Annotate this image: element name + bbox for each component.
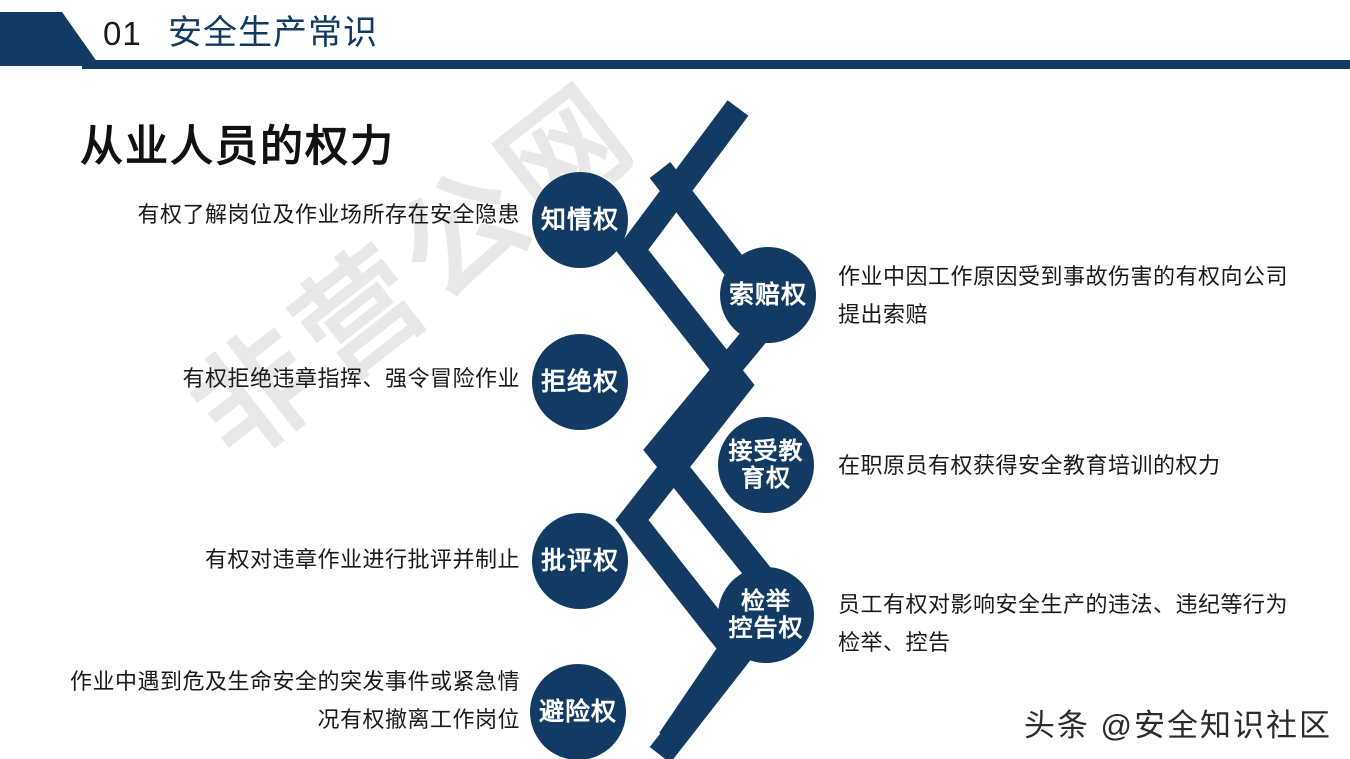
- description-zhiqingquan: 有权了解岗位及作业场所存在安全隐患: [60, 196, 520, 234]
- node-label-line1: 接受教: [729, 438, 804, 465]
- node-label-line1: 检举: [741, 588, 791, 615]
- node-circle-pipingquan[interactable]: 批评权: [532, 513, 628, 609]
- header-section-number: 01: [103, 12, 142, 56]
- node-circle-jujuequan[interactable]: 拒绝权: [532, 334, 628, 430]
- header-section-title: 安全生产常识: [168, 10, 378, 56]
- node-label-line2: 育权: [741, 465, 791, 492]
- description-jujuequan: 有权拒绝违章指挥、强令冒险作业: [60, 360, 520, 398]
- node-circle-suopeiquan[interactable]: 索赔权: [720, 247, 816, 343]
- description-pipingquan: 有权对违章作业进行批评并制止: [60, 541, 520, 579]
- node-circle-bixianquan[interactable]: 避险权: [530, 664, 626, 759]
- node-label: 批评权: [541, 547, 619, 575]
- slide-canvas: 01 安全生产常识 从业人员的权力 非营公网 知情权 拒绝权 批评权 避险权 索…: [0, 0, 1350, 759]
- page-title: 从业人员的权力: [80, 112, 395, 174]
- node-circle-jianjukonggaoquan[interactable]: 检举 控告权: [718, 567, 814, 663]
- brand-watermark: 头条 @安全知识社区: [1024, 700, 1332, 745]
- node-circle-jieshoujiaoyuquan[interactable]: 接受教 育权: [718, 417, 814, 513]
- node-label: 避险权: [539, 698, 617, 726]
- node-label: 拒绝权: [541, 368, 619, 396]
- node-label: 索赔权: [729, 281, 807, 309]
- node-circle-zhiqingquan[interactable]: 知情权: [532, 172, 628, 268]
- description-suopeiquan: 作业中因工作原因受到事故伤害的有权向公司提出索赔: [838, 258, 1308, 334]
- node-label-line2: 控告权: [729, 615, 804, 642]
- description-jieshoujiaoyuquan: 在职原员有权获得安全教育培训的权力: [838, 447, 1308, 485]
- description-jianjukonggaoquan: 员工有权对影响安全生产的违法、违纪等行为检举、控告: [838, 586, 1308, 662]
- header-corner-shape: [0, 12, 100, 66]
- header-divider-line: [82, 60, 1350, 69]
- description-bixianquan: 作业中遇到危及生命安全的突发事件或紧急情况有权撤离工作岗位: [60, 663, 520, 739]
- node-label: 知情权: [541, 206, 619, 234]
